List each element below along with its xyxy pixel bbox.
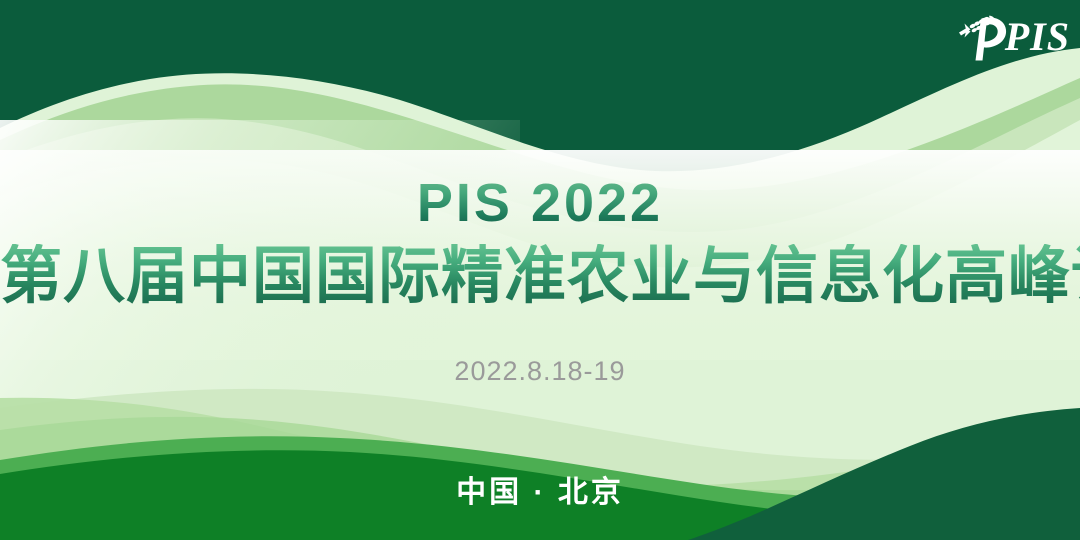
event-location: 中国 · 北京 [0,478,1080,508]
conference-banner: PIS PIS 2022 第八届中国国际精准农业与信息化高峰论坛 2022.8.… [0,0,1080,540]
event-title-english: PIS 2022 [0,176,1080,230]
banner-content: PIS 2022 第八届中国国际精准农业与信息化高峰论坛 2022.8.18-1… [0,0,1080,540]
pis-wordmark: PIS [1005,17,1070,57]
event-title-chinese: 第八届中国国际精准农业与信息化高峰论坛 [0,244,1080,309]
pis-logo[interactable]: PIS [953,8,1070,66]
event-date: 2022.8.18-19 [0,358,1080,385]
